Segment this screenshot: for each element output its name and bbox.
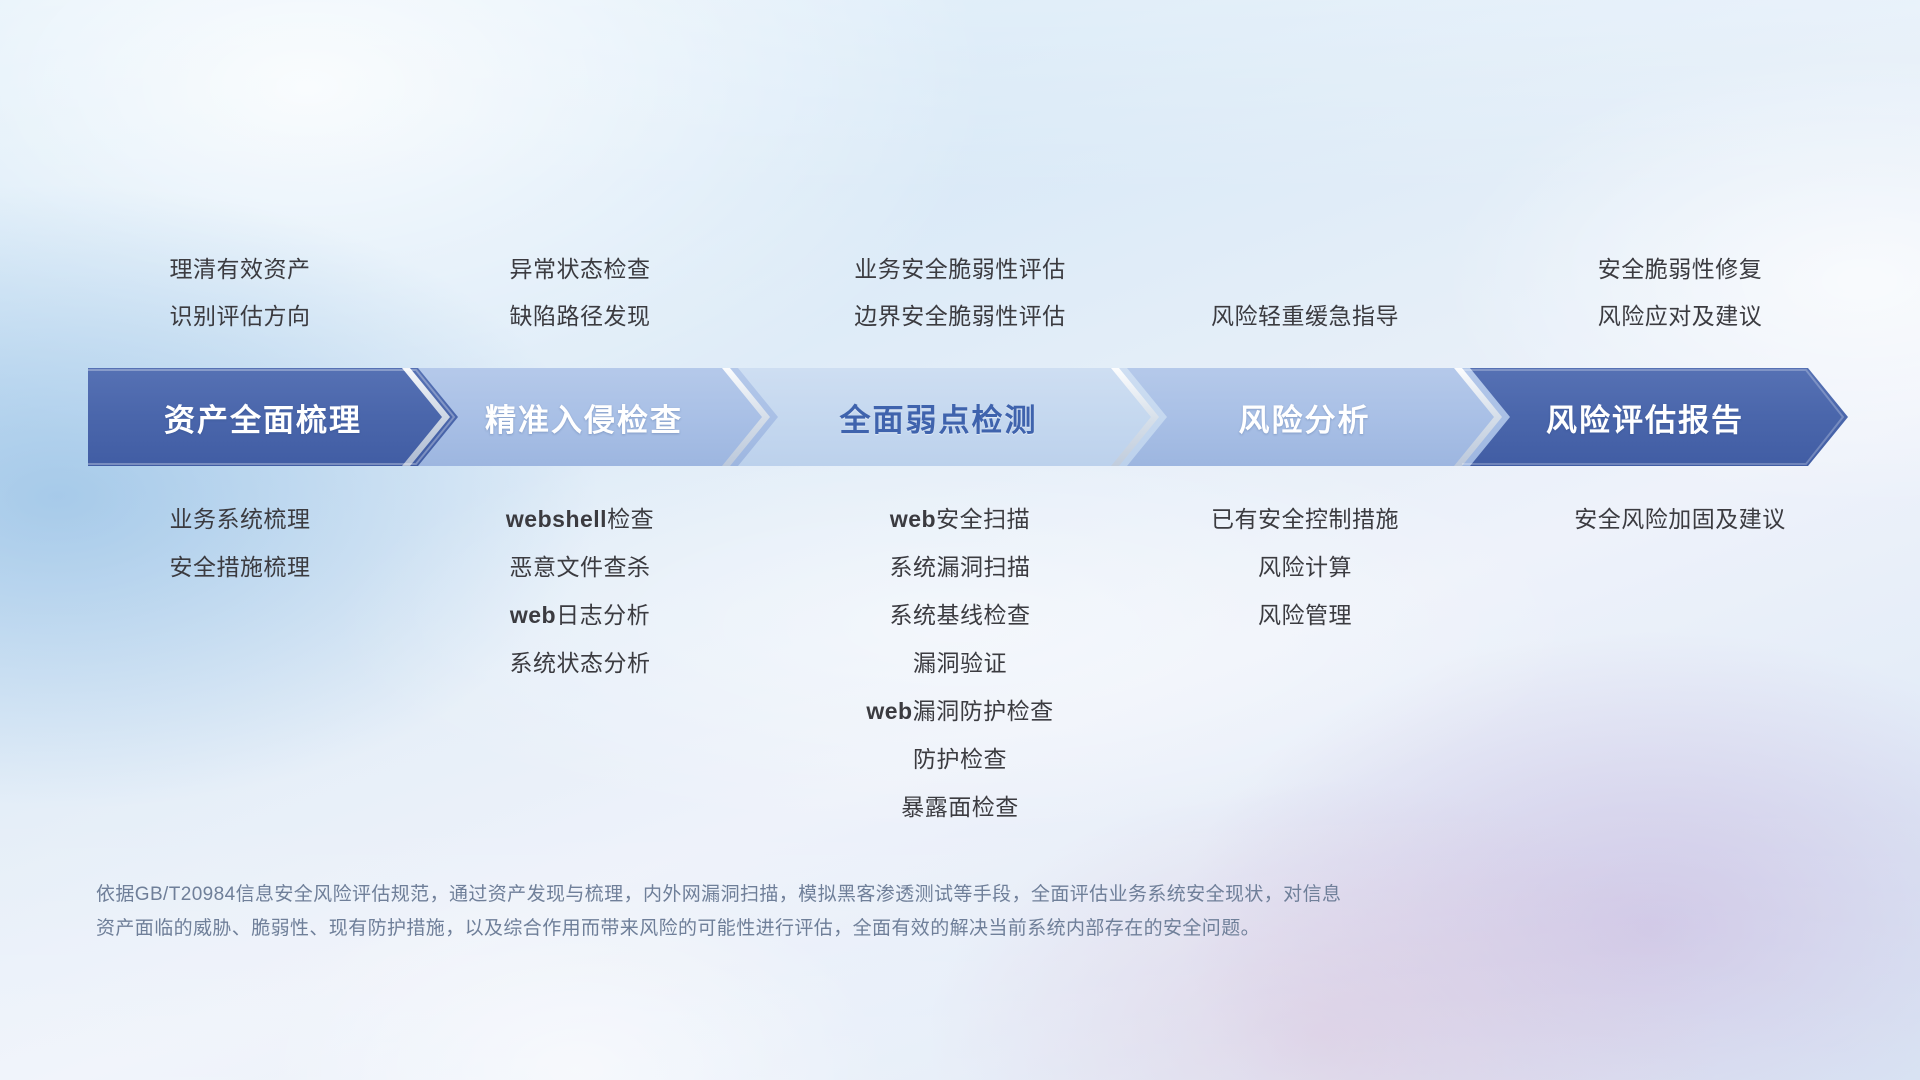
footer-description: 依据GB/T20984信息安全风险评估规范，通过资产发现与梳理，内外网漏洞扫描，… xyxy=(96,878,1626,946)
note-item: 风险管理 xyxy=(1055,604,1555,627)
footer-line-1: 依据GB/T20984信息安全风险评估规范，通过资产发现与梳理，内外网漏洞扫描，… xyxy=(96,878,1626,912)
note-item: 业务安全脆弱性评估 xyxy=(710,258,1210,281)
note-emphasis: web xyxy=(890,506,936,532)
top-notes-risk-report: 安全脆弱性修复风险应对及建议 xyxy=(1430,258,1920,328)
note-item: 风险计算 xyxy=(1055,556,1555,579)
note-emphasis: webshell xyxy=(506,506,607,532)
bottom-notes-risk-report: 安全风险加固及建议 xyxy=(1430,508,1920,556)
note-item: 漏洞验证 xyxy=(710,652,1210,675)
chevron-svg xyxy=(88,368,1848,466)
stage-chevron-band: 资产全面梳理精准入侵检查全面弱点检测风险分析风险评估报告 xyxy=(88,368,1848,466)
note-item: 暴露面检查 xyxy=(710,796,1210,819)
process-diagram: 理清有效资产识别评估方向异常状态检查缺陷路径发现业务安全脆弱性评估边界安全脆弱性… xyxy=(0,0,1920,1080)
note-item: web漏洞防护检查 xyxy=(710,700,1210,723)
note-item: 风险应对及建议 xyxy=(1430,305,1920,328)
note-item: 安全风险加固及建议 xyxy=(1430,508,1920,531)
note-item: 安全脆弱性修复 xyxy=(1430,258,1920,281)
footer-line-2: 资产面临的威胁、脆弱性、现有防护措施，以及综合作用而带来风险的可能性进行评估，全… xyxy=(96,912,1626,946)
note-item: 防护检查 xyxy=(710,748,1210,771)
note-emphasis: web xyxy=(866,698,912,724)
top-notes-row: 理清有效资产识别评估方向异常状态检查缺陷路径发现业务安全脆弱性评估边界安全脆弱性… xyxy=(0,232,1920,328)
note-emphasis: web xyxy=(510,602,556,628)
